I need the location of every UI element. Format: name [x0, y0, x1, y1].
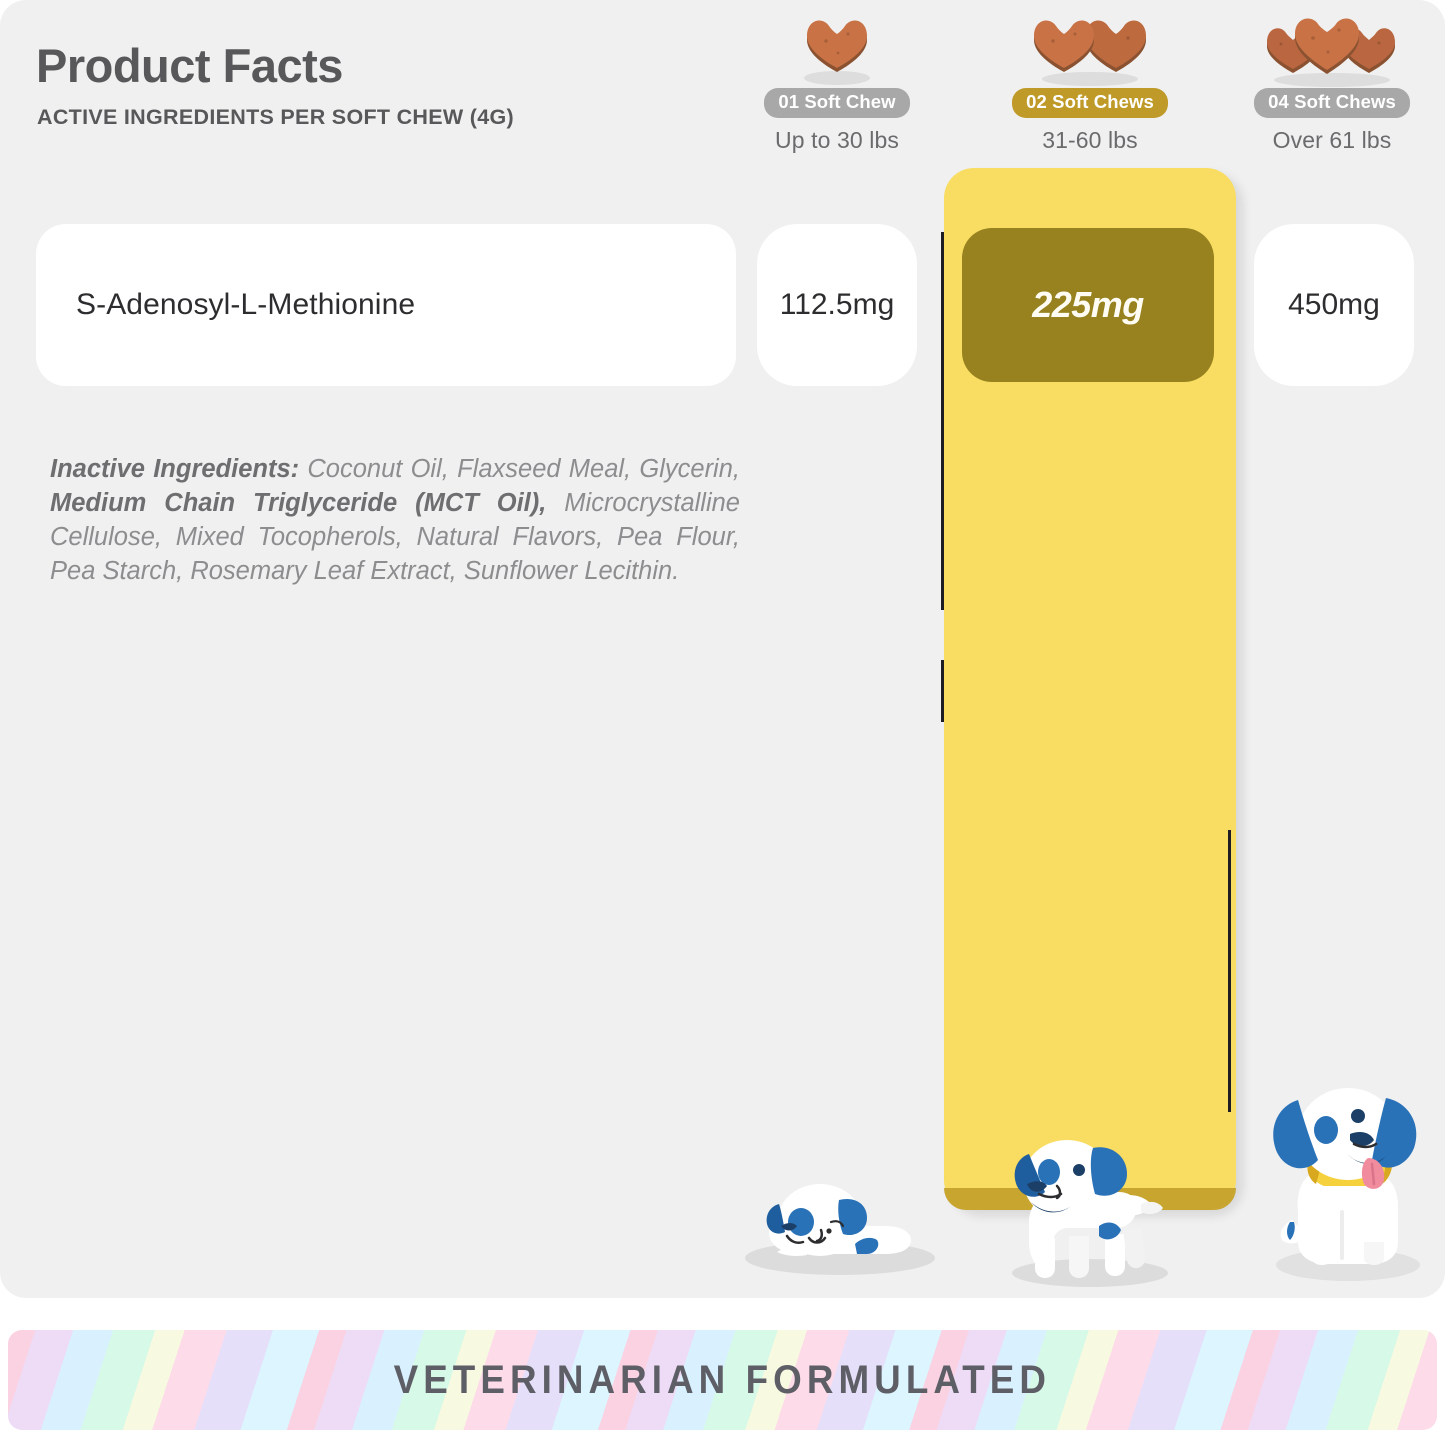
dose-weight-3: Over 61 lbs [1232, 127, 1432, 154]
veterinarian-formulated-banner: VETERINARIAN FORMULATED [8, 1330, 1437, 1430]
dose-weight-2: 31-60 lbs [990, 127, 1190, 154]
dose-column-2[interactable]: 02 Soft Chews 31-60 lbs [990, 10, 1190, 154]
soft-chew-heart-icon [1232, 10, 1432, 88]
soft-chew-heart-icon [990, 10, 1190, 88]
dose-column-1[interactable]: 01 Soft Chew Up to 30 lbs [737, 10, 937, 154]
inactive-ingredients-emphasis: Medium Chain Triglyceride (MCT Oil), [50, 489, 546, 517]
ingredient-value-2-highlighted: 225mg [962, 228, 1214, 382]
dog-walking-medium [995, 1118, 1185, 1298]
dog-sitting-large [1256, 1072, 1441, 1292]
ingredient-value-1: 112.5mg [757, 224, 917, 386]
inactive-ingredients-label: Inactive Ingredients: [50, 455, 299, 483]
ingredient-row: S-Adenosyl-L-Methionine [36, 224, 736, 386]
column-edge-line-right [1228, 830, 1231, 1112]
inactive-ingredients-paragraph: Inactive Ingredients: Coconut Oil, Flaxs… [50, 452, 740, 588]
dose-badge-2: 02 Soft Chews [1012, 88, 1168, 118]
ingredient-value-2-text: 225mg [1032, 284, 1144, 326]
ingredient-value-3: 450mg [1254, 224, 1414, 386]
dose-column-3[interactable]: 04 Soft Chews Over 61 lbs [1232, 10, 1432, 154]
dog-lying-small [735, 1148, 945, 1283]
product-facts-panel: Product Facts ACTIVE INGREDIENTS PER SOF… [0, 0, 1445, 1298]
page-subtitle: ACTIVE INGREDIENTS PER SOFT CHEW (4G) [37, 105, 514, 130]
column-edge-line-left-lower [941, 660, 944, 722]
page-title: Product Facts [36, 38, 343, 93]
veterinarian-formulated-text: VETERINARIAN FORMULATED [394, 1358, 1051, 1403]
ingredient-name: S-Adenosyl-L-Methionine [36, 288, 415, 322]
column-edge-line-left-upper [941, 232, 944, 610]
dose-badge-3: 04 Soft Chews [1254, 88, 1410, 118]
dose-badge-1: 01 Soft Chew [764, 88, 909, 118]
soft-chew-heart-icon [737, 10, 937, 88]
inactive-ingredients-text-before: Coconut Oil, Flaxseed Meal, Glycerin, [299, 455, 740, 483]
dose-weight-1: Up to 30 lbs [737, 127, 937, 154]
